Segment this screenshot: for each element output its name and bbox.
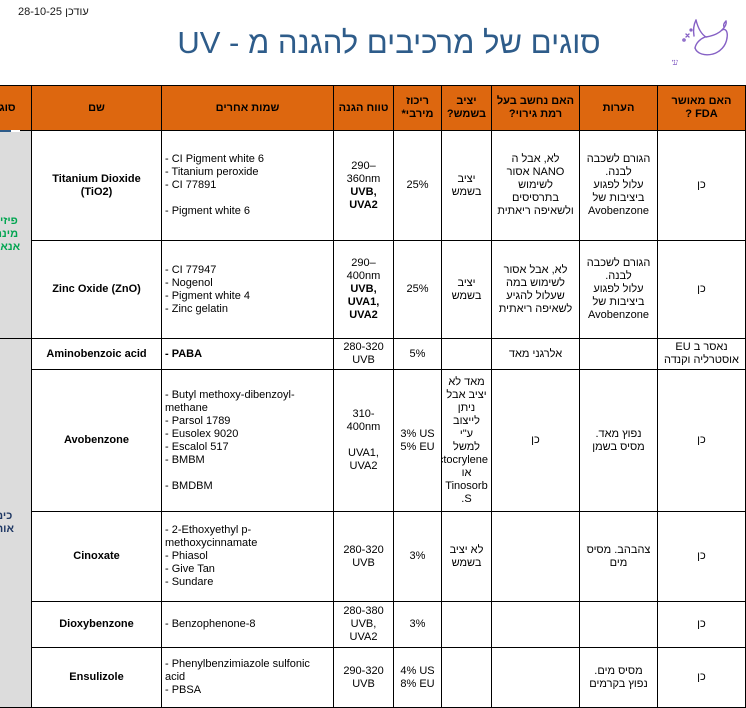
cell-name: Zinc Oxide (ZnO) [32, 241, 162, 339]
other-name: - CI Pigment white 6 [165, 153, 330, 166]
cell-other-names: - Butyl methoxy-dibenzoyl-methane - Pars… [162, 370, 334, 512]
cell-fda: כן [658, 241, 746, 339]
cell-irritation: כן [492, 370, 580, 512]
cell-name: Dioxybenzone [32, 602, 162, 648]
other-name: - 2-Ethoxyethyl p-methoxycinnamate [165, 524, 330, 550]
notes-line: נפוץ מאד. [583, 428, 654, 441]
range-line: 280-320 [337, 341, 390, 354]
range-line: 280-380 [337, 605, 390, 618]
cell-irritation: לא, אבל אסור לשימוש במה שעלול להגיע לשאי… [492, 241, 580, 339]
page-header: עודכן 28-10-25 עשאת טיפוח סוגים של מ [0, 0, 746, 85]
range-line: UVB, UVA2 [337, 618, 390, 644]
cell-name: Ensulizole [32, 648, 162, 708]
notes-line: מסיס בשמן [583, 441, 654, 454]
col-header-notes[interactable]: הערות [580, 86, 658, 131]
other-name: - Titanium peroxide [165, 166, 330, 179]
other-name: - BMBM [165, 454, 330, 467]
notes-line: הגורם לשכבה לבנה. [583, 153, 654, 179]
table-body: כן הגורם לשכבה לבנה. עלול לפגוע ביציבות … [0, 131, 746, 708]
cell-notes: נפוץ מאד. מסיס בשמן [580, 370, 658, 512]
notes-line: הגורם לשכבה לבנה. [583, 257, 654, 283]
cell-sun-stable: יציב בשמש [442, 131, 492, 241]
other-name: - PBSA [165, 684, 330, 697]
table-row: כן צהבהב. מסיס מים לא יציב בשמש 3% 280-3… [0, 512, 746, 602]
cell-irritation [492, 602, 580, 648]
cell-protection-range: 290-320 UVB [334, 648, 394, 708]
cell-sun-stable [442, 339, 492, 370]
site-logo: עשאת טיפוח [672, 10, 740, 72]
table-header-row: האם מאושר FDA ? הערות האם נחשב בעל רמת ג… [0, 86, 746, 131]
cell-protection-range: 280-380 UVB, UVA2 [334, 602, 394, 648]
other-name: - Escalol 517 [165, 441, 330, 454]
other-name: - Give Tan [165, 563, 330, 576]
cell-name: Aminobenzoic acid [32, 339, 162, 370]
other-name-blank [165, 467, 330, 480]
cell-fda: כן [658, 602, 746, 648]
table-row: כן מסיס מים. נפוץ בקרמים 4% US 8% EU 290… [0, 648, 746, 708]
col-header-fda[interactable]: האם מאושר FDA ? [658, 86, 746, 131]
col-header-max-concentration[interactable]: ריכוז מירבי* [394, 86, 442, 131]
other-name: - Zinc gelatin [165, 303, 330, 316]
cell-other-names: - CI 77947 - Nogenol - Pigment white 4 -… [162, 241, 334, 339]
notes-line: עלול לפגוע ביציבות של Avobenzone [583, 283, 654, 322]
range-line: 290–400nm [337, 257, 390, 283]
other-name: - Benzophenone-8 [165, 618, 330, 631]
table-row: נאסר ב EU אוסטרליה וקנדה אלרגני מאד 5% 2… [0, 339, 746, 370]
svg-text:עשאת טיפוח: עשאת טיפוח [672, 57, 678, 67]
uv-ingredients-table: האם מאושר FDA ? הערות האם נחשב בעל רמת ג… [0, 85, 746, 708]
other-name: - Phenylbenzimiazole sulfonic acid [165, 658, 330, 684]
table-row: כן 3% 280-380 UVB, UVA2 - Benzophenone-8… [0, 602, 746, 648]
range-line-blank [337, 434, 390, 447]
range-line: 290–360nm [337, 160, 390, 186]
range-line: UVA1, UVA2 [337, 447, 390, 473]
other-name: - Phiasol [165, 550, 330, 563]
table-row: כן נפוץ מאד. מסיס בשמן כן מאד לא יציב אב… [0, 370, 746, 512]
cell-other-names: - Phenylbenzimiazole sulfonic acid - PBS… [162, 648, 334, 708]
cell-protection-range: 280-320 UVB [334, 512, 394, 602]
cell-max-concentration: 3% [394, 512, 442, 602]
range-line: 280-320 [337, 544, 390, 557]
cell-notes: הגורם לשכבה לבנה. עלול לפגוע ביציבות של … [580, 131, 658, 241]
col-header-sun-stable[interactable]: יציב בשמש? [442, 86, 492, 131]
cell-max-concentration: 25% [394, 131, 442, 241]
cell-fda: נאסר ב EU אוסטרליה וקנדה [658, 339, 746, 370]
cell-protection-range: 290–360nm UVB, UVA2 [334, 131, 394, 241]
table-row: כן הגורם לשכבה לבנה. עלול לפגוע ביציבות … [0, 241, 746, 339]
page-title: סוגים של מרכיבים להגנה מ - UV [120, 26, 658, 60]
cell-other-names: - CI Pigment white 6 - Titanium peroxide… [162, 131, 334, 241]
cell-notes: הגורם לשכבה לבנה. עלול לפגוע ביציבות של … [580, 241, 658, 339]
cell-protection-type-group: פיזיקליים/ מינרליים / אנאורגניים [0, 131, 32, 339]
cell-notes [580, 339, 658, 370]
other-name: - Pigment white 6 [165, 205, 330, 218]
cell-max-concentration: 25% [394, 241, 442, 339]
cell-sun-stable: לא יציב בשמש [442, 512, 492, 602]
other-name: - PABA [165, 348, 330, 361]
other-name: - BMDBM [165, 480, 330, 493]
cell-fda: כן [658, 512, 746, 602]
other-name: - Butyl methoxy-dibenzoyl-methane [165, 389, 330, 415]
notes-line: עלול לפגוע ביציבות של Avobenzone [583, 179, 654, 218]
table-row: כן הגורם לשכבה לבנה. עלול לפגוע ביציבות … [0, 131, 746, 241]
cell-notes: צהבהב. מסיס מים [580, 512, 658, 602]
cell-irritation: אלרגני מאד [492, 339, 580, 370]
cell-fda: כן [658, 370, 746, 512]
range-line: UVB [337, 678, 390, 691]
cell-fda: כן [658, 648, 746, 708]
other-name: - Parsol 1789 [165, 415, 330, 428]
range-line: UVB [337, 354, 390, 367]
col-header-protection-type[interactable]: סוג הגנה [0, 86, 32, 131]
other-name: - Sundare [165, 576, 330, 589]
cell-sun-stable [442, 648, 492, 708]
cell-max-concentration: 4% US 8% EU [394, 648, 442, 708]
cell-sun-stable: מאד לא יציב אבל ניתן לייצוב ע"י למשל oct… [442, 370, 492, 512]
cell-max-concentration: 3% US 5% EU [394, 370, 442, 512]
cell-other-names: - PABA [162, 339, 334, 370]
cell-fda: כן [658, 131, 746, 241]
cell-protection-range: 310-400nm UVA1, UVA2 [334, 370, 394, 512]
cell-name: Titanium Dioxide (TiO2) [32, 131, 162, 241]
cell-name: Cinoxate [32, 512, 162, 602]
cell-name: Avobenzone [32, 370, 162, 512]
cell-sun-stable: יציב בשמש [442, 241, 492, 339]
col-header-protection-range[interactable]: טווח הגנה [334, 86, 394, 131]
col-header-name[interactable]: שם [32, 86, 162, 131]
cell-other-names: - 2-Ethoxyethyl p-methoxycinnamate - Phi… [162, 512, 334, 602]
cell-notes: מסיס מים. נפוץ בקרמים [580, 648, 658, 708]
range-line: UVB [337, 557, 390, 570]
other-name: - CI 77891 [165, 179, 330, 192]
cell-sun-stable [442, 602, 492, 648]
cell-other-names: - Benzophenone-8 [162, 602, 334, 648]
other-name: - Nogenol [165, 277, 330, 290]
cell-protection-type-group: כימיים / אורגניים [0, 339, 32, 708]
cell-max-concentration: 3% [394, 602, 442, 648]
cell-irritation [492, 648, 580, 708]
cell-notes [580, 602, 658, 648]
last-updated-label: עודכן 28-10-25 [18, 6, 89, 18]
col-header-other-names[interactable]: שמות אחרים [162, 86, 334, 131]
other-name: - Pigment white 4 [165, 290, 330, 303]
range-line: UVB, UVA1, UVA2 [337, 283, 390, 322]
col-header-irritation[interactable]: האם נחשב בעל רמת גירוי? [492, 86, 580, 131]
range-line: UVB, UVA2 [337, 186, 390, 212]
other-name-blank [165, 192, 330, 205]
notes-line: נפוץ בקרמים [583, 678, 654, 691]
cell-irritation: לא, אבל ה NANO אסור לשימוש בתרסיסים ולשא… [492, 131, 580, 241]
cell-irritation [492, 512, 580, 602]
notes-line: מסיס מים. [583, 665, 654, 678]
cell-protection-range: 290–400nm UVB, UVA1, UVA2 [334, 241, 394, 339]
range-line: 290-320 [337, 665, 390, 678]
other-name: - CI 77947 [165, 264, 330, 277]
cell-protection-range: 280-320 UVB [334, 339, 394, 370]
range-line: 310-400nm [337, 408, 390, 434]
other-name: - Eusolex 9020 [165, 428, 330, 441]
cell-max-concentration: 5% [394, 339, 442, 370]
